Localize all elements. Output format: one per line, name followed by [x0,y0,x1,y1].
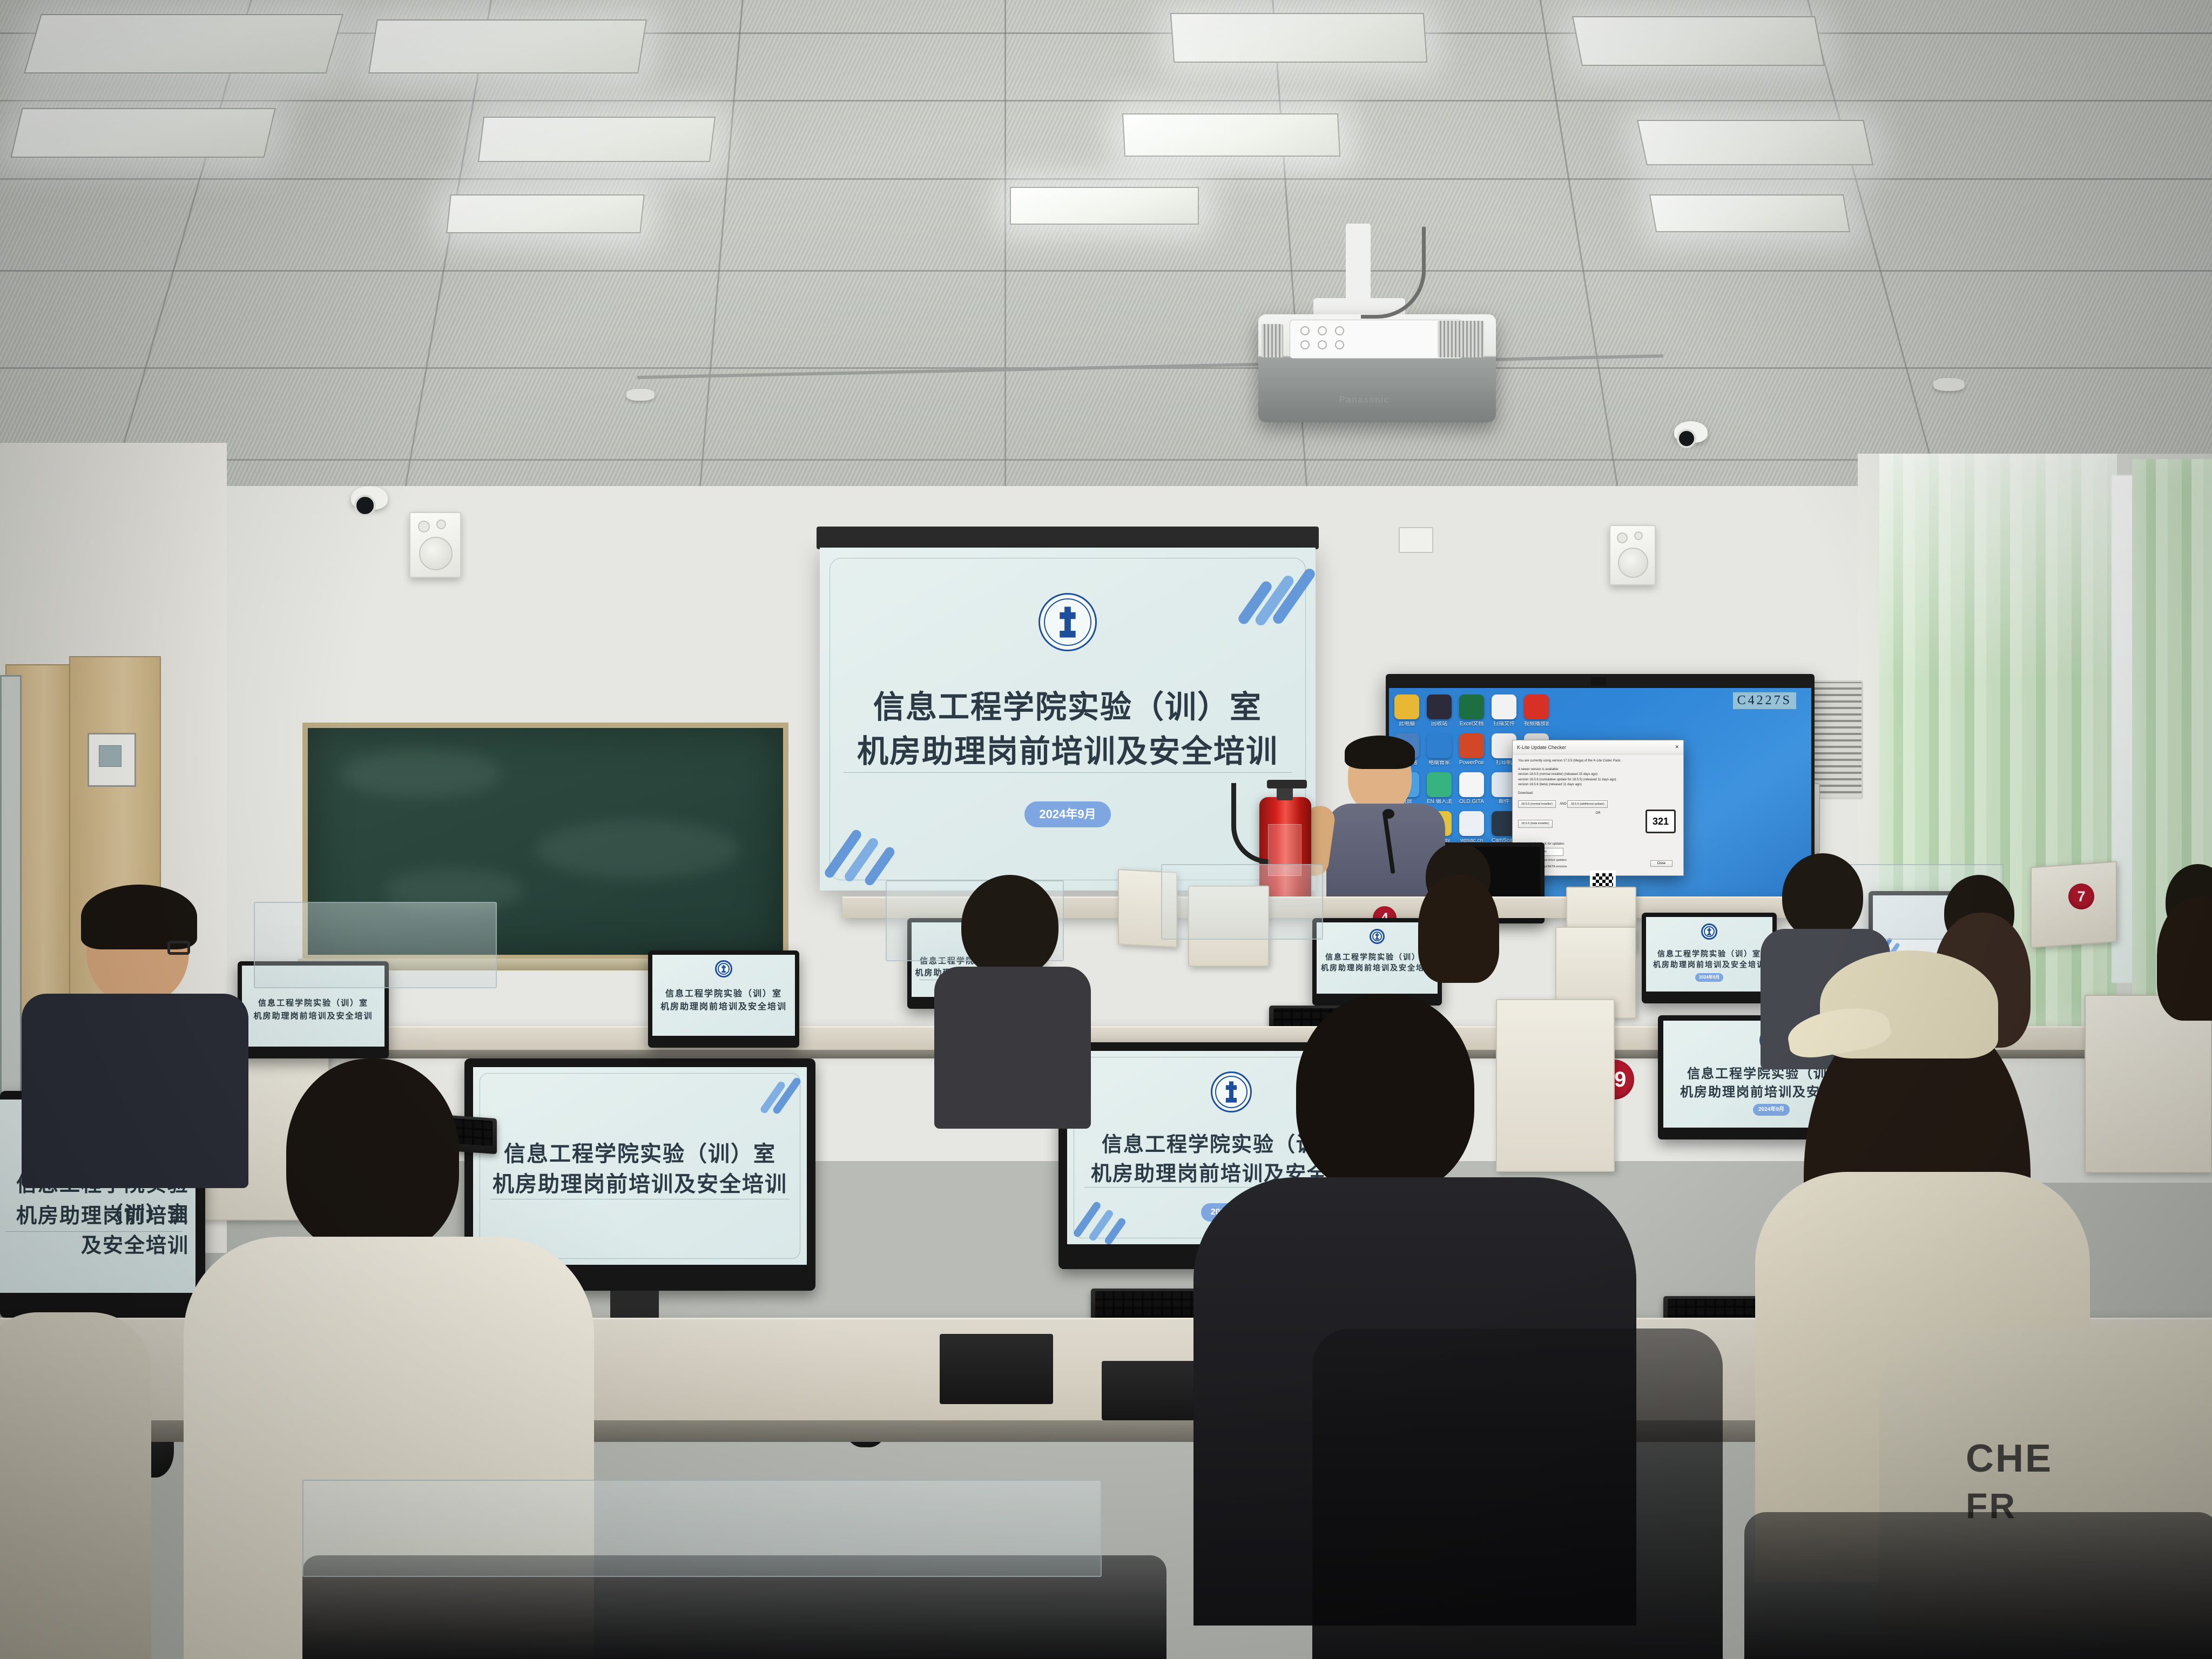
monitor-slide-line2: 机房助理岗前培训及安全培训 [242,1010,385,1021]
ceiling-light [1170,13,1427,63]
wall-speaker [409,512,461,578]
dialog-version-2: version 18.5.6 (cumulative update for 18… [1518,778,1678,783]
desktop-icon[interactable]: Excel文档 [1459,694,1484,727]
ceiling-light [446,194,645,233]
wall-control-panel[interactable] [87,733,136,787]
glass-privacy-panel [302,1480,1102,1577]
curtain-highlight [1879,454,2117,680]
desktop-icon-glyph [1459,694,1484,719]
desktop-icon-label: 此电脑 [1394,721,1419,727]
monitor-slide-line2: 机房助理岗前培训及安全培训 [1646,959,1772,970]
dialog-title: K-Lite Update Checker [1517,745,1566,750]
desktop-icon-label: Excel文档 [1459,721,1484,727]
shirt-print-text-front: CHE [1966,1437,2053,1481]
slide-title-line1: 信息工程学院实验（训）室 [820,682,1316,727]
desktop-icon-label: 扫描文件 [1492,721,1516,727]
dialog-download-label: Download: [1518,791,1678,797]
smoke-detector-icon [626,389,655,401]
dialog-titlebar: K-Lite Update Checker ✕ [1513,740,1683,754]
dialog-intro-text: You are currently using version 17.3.5 (… [1518,759,1678,764]
glass-privacy-panel [254,902,497,988]
ceiling-light [24,14,343,73]
door-glass-panel [0,675,22,1118]
ceiling-grid-line [1004,0,1006,540]
monitor-slide-line2: 机房助理岗前培训及安全培训 [473,1166,807,1198]
slide-divider [844,772,1292,773]
desktop-icon-glyph [1394,694,1419,719]
university-emblem [1038,593,1097,651]
desktop-icon[interactable]: 视频播放器 [1524,694,1549,727]
whiteboard-camera-icon [1591,677,1606,686]
ceiling-light [1010,187,1199,225]
desktop-icon-label: 视频播放器 [1524,721,1549,727]
ceiling-light [1649,194,1850,232]
display-watermark: C4227S [1733,692,1796,709]
monitor-slide-line2: 机房助理岗前培训及安全培训 [652,999,795,1012]
dialog-available-heading: A newer version is available: [1518,767,1678,773]
ceiling-grid-line [0,178,2212,180]
media-player-classic-logo: 321 [1645,810,1676,833]
monitor-slide-date: 2024年9月 [1695,973,1723,982]
smoke-detector-icon [1933,378,1965,391]
desktop-icon-glyph [1524,694,1549,719]
wall-speaker [1609,525,1656,585]
ceiling-grid-line [0,100,2212,102]
ceiling-light [368,19,647,73]
desktop-icon-label: 回收站 [1427,721,1452,727]
ceiling-light [10,108,275,158]
dialog-and-label: AND [1560,802,1567,806]
projector-brand: Panasonic [1339,395,1390,405]
download-beta-installer-button[interactable]: 18.5.6 (beta installer) [1518,820,1553,828]
dialog-version-1: version 18.5.5 (normal installer) (relea… [1518,772,1678,778]
desk-divider [1496,999,1615,1172]
dialog-version-3: version 18.5.6 (beta) (released 11 days … [1518,783,1678,788]
desktop-icon[interactable]: 回收站 [1427,694,1452,727]
monitor-slide-line1: 信息工程学院实验（训）室 [652,986,795,999]
security-camera-icon [1674,421,1708,443]
ceiling-light [1637,120,1873,165]
student-monitor[interactable]: 信息工程学院实验（训）室 机房助理岗前培训及安全培训 [648,950,799,1048]
classroom-scene: Panasonic [0,0,2212,1659]
projector: Panasonic [1258,314,1496,422]
monitor-slide-line2: 机房助理岗前培训及安全培训 [0,1199,195,1258]
monitor-slide-date: 2024年9月 [1753,1104,1790,1116]
desktop-icon-glyph [1492,694,1516,719]
chair-back [1312,1328,1723,1659]
ceiling-light [1122,113,1340,157]
seat-badge: 7 [2068,884,2094,909]
desk-divider [2085,995,2212,1173]
download-additional-update-button[interactable]: 18.5.6 (additional update) [1567,800,1607,808]
download-normal-installer-button[interactable]: 18.5.5 (normal installer) [1518,800,1556,808]
monitor-slide-line2: 机房助理岗前培训及安全培训 [1317,962,1438,973]
student-monitor[interactable]: 信息工程学院实验（训）室 机房助理岗前培训及安全培训 2024年9月 [1642,913,1777,1003]
monitor-slide-line1: 信息工程学院实验（训）室 [242,997,385,1008]
monitor-slide-line1: 信息工程学院实验（训）室 [473,1136,807,1168]
projection-screen-case [817,527,1319,549]
desktop-icon-glyph [1427,694,1452,719]
chair-back [1744,1512,2212,1659]
desktop-icon[interactable]: 扫描文件 [1492,694,1516,727]
computer-tower [940,1334,1053,1404]
wall-junction-box [1399,527,1433,553]
slide-date-badge: 2024年9月 [1024,801,1111,827]
slide-title-line2: 机房助理岗前培训及安全培训 [820,726,1316,771]
desktop-icon[interactable]: 此电脑 [1394,694,1419,727]
hair [81,885,197,949]
ceiling-light [1572,16,1825,66]
close-dialog-button[interactable]: Close [1650,860,1673,867]
control-panel-display [99,745,122,767]
ceiling-light [478,117,716,162]
close-icon[interactable]: ✕ [1675,744,1679,750]
security-camera-icon [351,486,388,510]
eyeglasses [167,941,190,955]
monitor-slide-line1: 信息工程学院实验（训）室 [1646,948,1772,959]
glass-privacy-panel [1161,864,1323,940]
